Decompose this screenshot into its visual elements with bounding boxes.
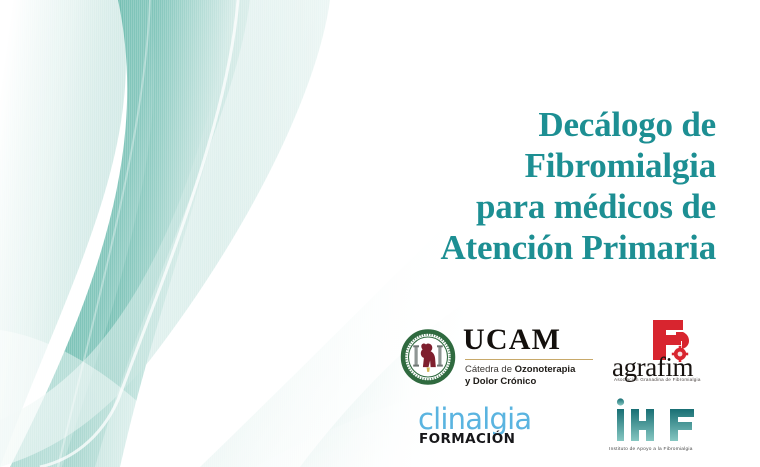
ucam-subtitle: Cátedra de Ozonoterapiay Dolor Crónico	[465, 364, 597, 388]
presentation-slide: Decálogo de Fibromialgia para médicos de…	[0, 0, 760, 467]
clinalgia-subtitle: FORMACIÓN	[419, 431, 531, 447]
iaf-subtitle: Instituto de Apoyo a la Fibromialgia	[609, 447, 748, 452]
title-line-3: para médicos de	[356, 186, 716, 227]
clinalgia-logo: clinalgia FORMACIÓN	[418, 404, 531, 447]
ucam-seal-icon	[400, 329, 456, 385]
ucam-wordmark: UCAM	[463, 325, 597, 355]
ucam-subtitle-line2: y Dolor Crónico	[465, 376, 536, 387]
page-title: Decálogo de Fibromialgia para médicos de…	[356, 104, 716, 268]
ucam-text-block: UCAM Cátedra de Ozonoterapiay Dolor Crón…	[463, 325, 597, 388]
clinalgia-wordmark: clinalgia	[418, 404, 531, 434]
iaf-logo: Instituto de Apoyo a la Fibromialgia	[608, 396, 748, 452]
ucam-logo: UCAM Cátedra de Ozonoterapiay Dolor Crón…	[400, 325, 597, 388]
ucam-subtitle-bold: Ozonoterapia	[515, 364, 576, 375]
title-line-2: Fibromialgia	[356, 145, 716, 186]
ucam-subtitle-prefix: Cátedra de	[465, 364, 515, 375]
ucam-divider	[465, 359, 593, 360]
title-line-1: Decálogo de	[356, 104, 716, 145]
iaf-wordmark-icon	[608, 396, 700, 446]
title-line-4: Atención Primaria	[356, 227, 716, 268]
logo-row: UCAM Cátedra de Ozonoterapiay Dolor Crón…	[400, 318, 750, 466]
agrafim-subtitle: Asociación Granadina de Fibromialgia	[614, 377, 701, 382]
